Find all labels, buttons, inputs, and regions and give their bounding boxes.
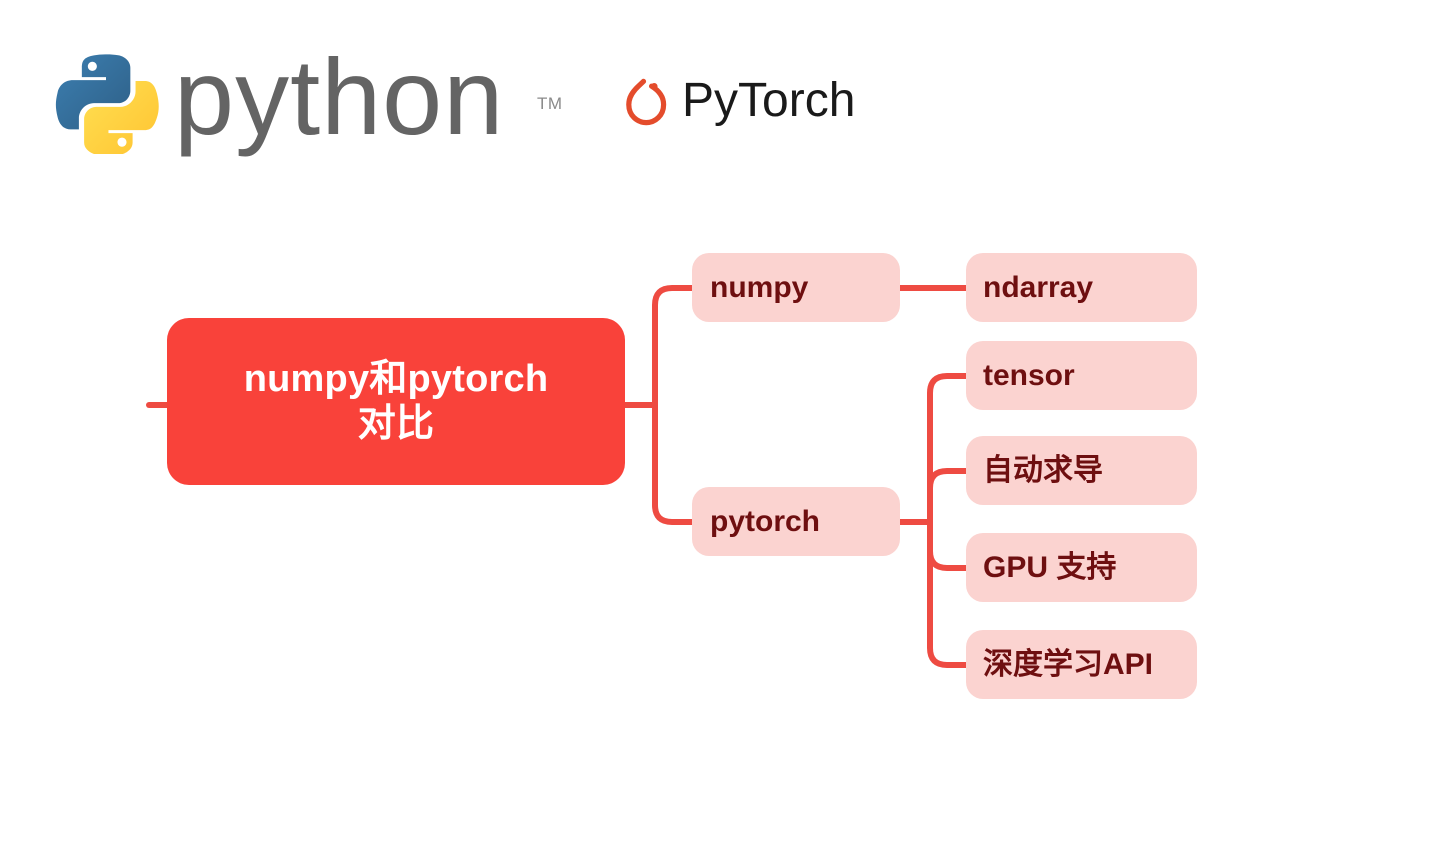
mindmap-node-autograd[interactable]: 自动求导	[966, 436, 1197, 505]
connector-pytorch-to-autograd	[930, 471, 966, 522]
mindmap-node-dlapi[interactable]: 深度学习API	[966, 630, 1197, 699]
connector-root-to-pytorch	[655, 405, 692, 522]
mindmap-node-numpy[interactable]: numpy	[692, 253, 900, 322]
mindmap-node-pytorch[interactable]: pytorch	[692, 487, 900, 556]
node-ndarray-label: ndarray	[983, 270, 1093, 305]
node-root-label: numpy和pytorch 对比	[244, 357, 549, 447]
mindmap-node-ndarray[interactable]: ndarray	[966, 253, 1197, 322]
mindmap-canvas: numpy和pytorch 对比 numpy pytorch ndarray t…	[0, 0, 1440, 844]
connector-pytorch-to-gpu	[930, 522, 966, 568]
connector-root-to-numpy	[655, 288, 692, 405]
node-tensor-label: tensor	[983, 358, 1075, 393]
mindmap-node-gpu[interactable]: GPU 支持	[966, 533, 1197, 602]
node-autograd-label: 自动求导	[983, 453, 1103, 488]
mindmap-node-root[interactable]: numpy和pytorch 对比	[167, 318, 625, 485]
node-gpu-label: GPU 支持	[983, 550, 1116, 585]
connector-pytorch-to-tensor	[930, 376, 966, 522]
node-dlapi-label: 深度学习API	[983, 647, 1153, 682]
node-pytorch-label: pytorch	[710, 504, 820, 539]
mindmap-node-tensor[interactable]: tensor	[966, 341, 1197, 410]
connector-pytorch-to-dlapi	[930, 522, 966, 665]
node-numpy-label: numpy	[710, 270, 808, 305]
